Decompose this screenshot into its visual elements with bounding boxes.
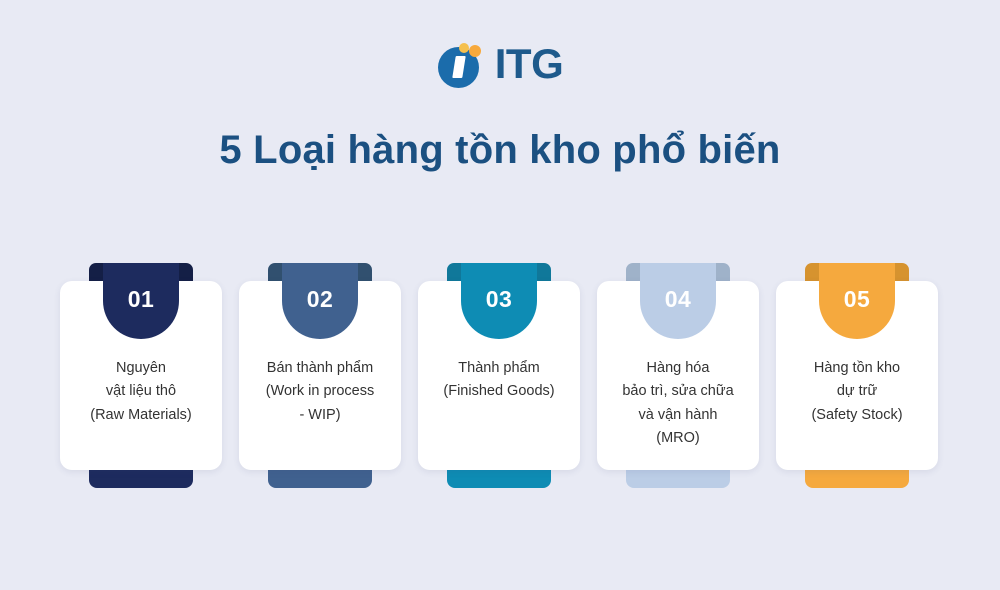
- list-item: Nguyên vật liệu thô (Raw Materials) 01: [60, 263, 222, 488]
- card-label: Nguyên vật liệu thô (Raw Materials): [84, 357, 198, 427]
- number-badge: 05: [819, 263, 895, 339]
- page-title: 5 Loại hàng tồn kho phổ biến: [0, 128, 1000, 173]
- itg-logo-icon: [437, 41, 485, 89]
- yellow-dot-icon: [459, 43, 469, 53]
- number-badge: 03: [461, 263, 537, 339]
- card-label: Hàng tồn kho dự trữ (Safety Stock): [805, 357, 908, 427]
- number-badge: 01: [103, 263, 179, 339]
- orange-dot-icon: [469, 45, 481, 57]
- card-label: Hàng hóa bảo trì, sửa chữa và vận hành (…: [616, 357, 739, 451]
- badge-number: 02: [307, 263, 334, 313]
- list-item: Hàng tồn kho dự trữ (Safety Stock) 05: [776, 263, 938, 488]
- list-item: Thành phẩm (Finished Goods) 03: [418, 263, 580, 488]
- list-item: Hàng hóa bảo trì, sửa chữa và vận hành (…: [597, 263, 759, 488]
- badge-number: 01: [128, 263, 155, 313]
- number-badge: 04: [640, 263, 716, 339]
- brand-logo: ITG: [0, 34, 1000, 96]
- badge-number: 03: [486, 263, 513, 313]
- card-label: Thành phẩm (Finished Goods): [437, 357, 560, 404]
- list-item: Bán thành phẩm (Work in process - WIP) 0…: [239, 263, 401, 488]
- number-badge: 02: [282, 263, 358, 339]
- badge-number: 05: [844, 263, 871, 313]
- card-label: Bán thành phẩm (Work in process - WIP): [260, 357, 381, 427]
- inventory-type-card-list: Nguyên vật liệu thô (Raw Materials) 01 B…: [60, 263, 940, 488]
- brand-wordmark: ITG: [495, 43, 564, 87]
- badge-number: 04: [665, 263, 692, 313]
